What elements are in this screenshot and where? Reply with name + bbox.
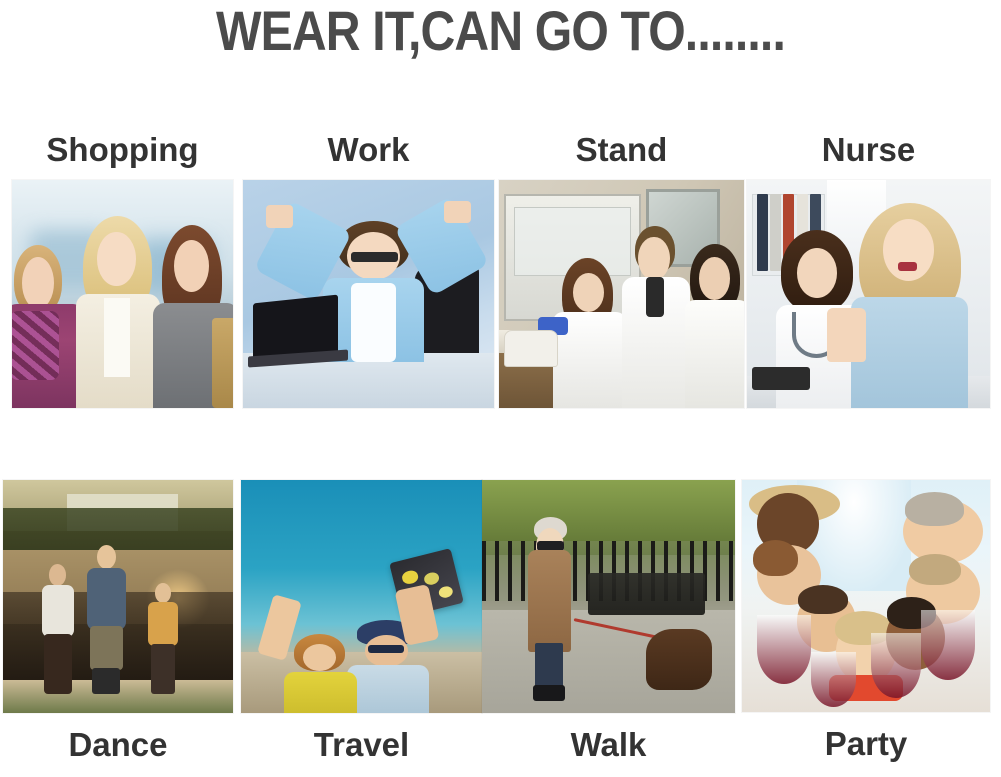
cell-label-walk: Walk [482, 725, 735, 765]
row-bottom: Dance [0, 480, 1001, 777]
dog [646, 629, 712, 690]
cell-label-party: Party [742, 724, 990, 764]
cell-label-nurse: Nurse [747, 130, 990, 170]
cell-nurse: Nurse [747, 130, 990, 408]
thumbs-up-hand [827, 308, 866, 363]
photo-walk [482, 480, 735, 713]
figure-tech-right [685, 244, 744, 408]
cell-label-work: Work [243, 130, 494, 170]
wine-glass [921, 610, 976, 680]
suitcase-sticker [423, 570, 441, 586]
cell-travel: Travel [241, 480, 482, 765]
dancer-second [40, 564, 77, 694]
cell-shopping: Shopping [12, 130, 233, 408]
cell-stand: Stand [499, 130, 744, 408]
wine-glass [871, 633, 921, 698]
photo-nurse [747, 180, 990, 408]
cell-label-dance: Dance [3, 725, 233, 765]
infographic-page: WEAR IT,CAN GO TO........ Shopping [0, 0, 1001, 777]
trench-coat [528, 550, 571, 653]
keyboard [752, 367, 810, 390]
photo-work [243, 180, 494, 408]
figure-nurse-front [849, 203, 971, 408]
shoes [533, 685, 566, 701]
wine-glass [757, 615, 812, 685]
cell-label-travel: Travel [241, 725, 482, 765]
park-bench [588, 573, 704, 615]
fist-left [266, 205, 294, 228]
photo-stand [499, 180, 744, 408]
figure-center [74, 212, 162, 408]
cell-dance: Dance [3, 480, 233, 765]
cell-label-stand: Stand [499, 130, 744, 170]
figure-woman-travel [284, 634, 356, 713]
fist-right [444, 201, 472, 224]
photo-travel [241, 480, 482, 713]
photo-shopping [12, 180, 233, 408]
cell-label-shopping: Shopping [12, 130, 233, 170]
page-title: WEAR IT,CAN GO TO........ [70, 0, 931, 62]
cell-work: Work [243, 130, 494, 408]
suitcase-sticker [401, 569, 420, 585]
centrifuge [504, 330, 558, 366]
dancer-main [86, 545, 127, 694]
jeans [535, 643, 563, 690]
dancer-third [146, 583, 181, 695]
cell-party: Party [742, 480, 990, 764]
suitcase-sticker [438, 584, 454, 598]
figure-tech-back [622, 226, 691, 408]
figure-left [12, 235, 83, 408]
photo-dance [3, 480, 233, 713]
row-top: Shopping [0, 130, 1001, 425]
figure-right [153, 221, 233, 408]
binder [757, 194, 768, 272]
cell-walk: Walk [482, 480, 735, 765]
photo-party [742, 480, 990, 712]
